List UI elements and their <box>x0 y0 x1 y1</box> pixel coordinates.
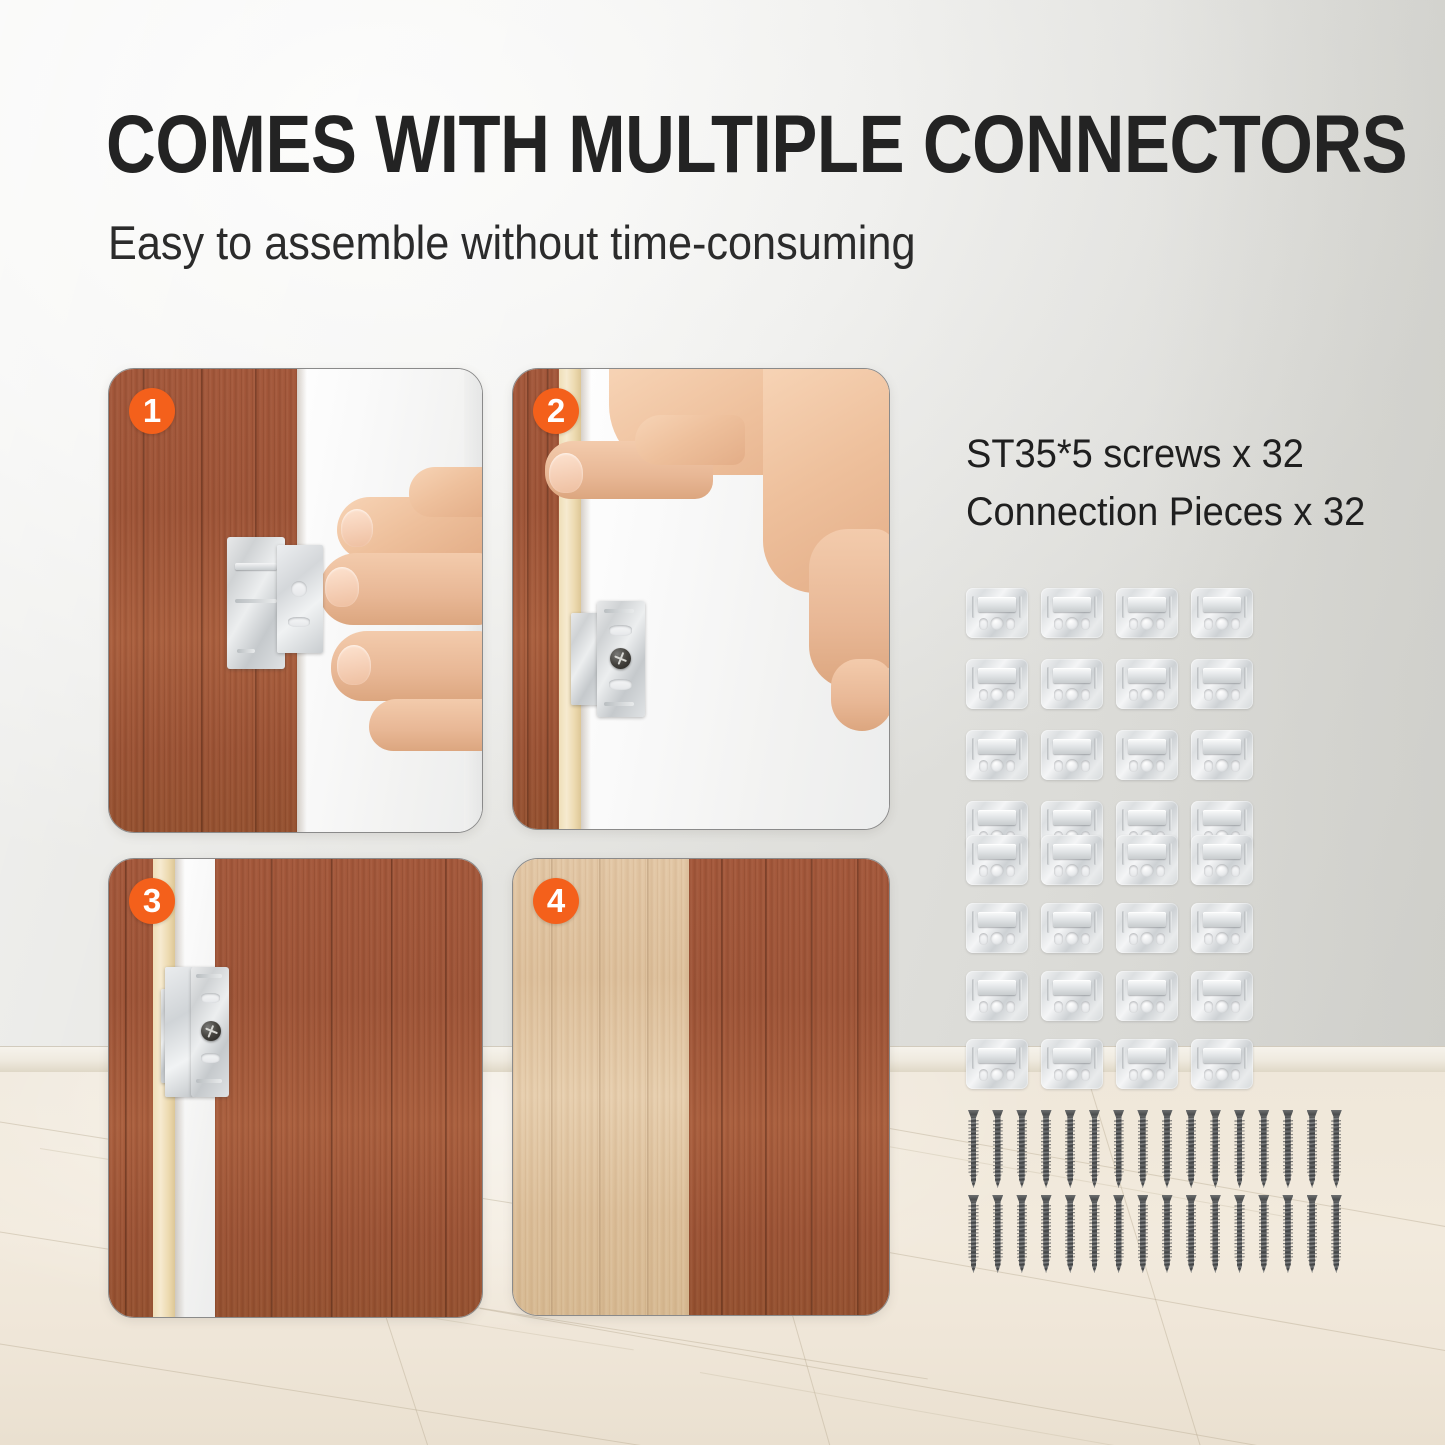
screw-head <box>1186 1110 1197 1118</box>
connector-slit-left <box>1122 596 1125 618</box>
screw <box>1041 1195 1052 1273</box>
connector-hole-center <box>1141 1000 1154 1013</box>
screw-threads <box>1162 1204 1172 1269</box>
screw-threads <box>968 1119 978 1184</box>
connector-hole-left <box>1204 1001 1213 1013</box>
screw-head <box>1210 1110 1221 1118</box>
connector-slit-right <box>1169 979 1172 1001</box>
connector-hole-left <box>1054 1001 1063 1013</box>
connector-hole-right <box>1156 618 1165 630</box>
screw-threads <box>1331 1204 1341 1269</box>
connector-hole-right <box>1006 1069 1015 1081</box>
screw <box>1331 1195 1342 1273</box>
connector-hole-left <box>1129 618 1138 630</box>
connector-hole-left <box>979 1069 988 1081</box>
connection-piece <box>1041 730 1103 780</box>
connector-slit-left <box>972 911 975 933</box>
connector-hole-right <box>1231 1069 1240 1081</box>
screw-threads <box>1162 1119 1172 1184</box>
screw-head <box>1065 1195 1076 1203</box>
connector-slit-right <box>1244 738 1247 760</box>
connector-slit-right <box>1094 738 1097 760</box>
connector-hole-center <box>1066 932 1079 945</box>
connector-slit-left <box>972 843 975 865</box>
connection-piece <box>1116 588 1178 638</box>
connector-hole-center <box>991 932 1004 945</box>
connector-hole-center <box>1141 617 1154 630</box>
connector-tab <box>1128 739 1166 754</box>
connector-slit-left <box>1047 1047 1050 1069</box>
screw-threads <box>1114 1119 1124 1184</box>
connector-grid-upper <box>966 588 1253 851</box>
connection-piece <box>1191 730 1253 780</box>
connector-slit-left <box>1047 911 1050 933</box>
connector-tab <box>1203 980 1241 995</box>
connection-piece <box>966 730 1028 780</box>
connector-hole-left <box>1129 760 1138 772</box>
screw-head <box>1089 1195 1100 1203</box>
screw-head <box>1089 1110 1100 1118</box>
connector-hole-left <box>1129 1069 1138 1081</box>
connector-hole-center <box>1066 617 1079 630</box>
connector-tab <box>1053 810 1091 825</box>
screw-head <box>1162 1195 1173 1203</box>
connector-hole-right <box>1156 1001 1165 1013</box>
connector-hole-center <box>1066 759 1079 772</box>
screw-row-upper <box>968 1110 1342 1188</box>
connector-slit-left <box>972 1047 975 1069</box>
connector-hole-left <box>1204 760 1213 772</box>
screw <box>968 1195 979 1273</box>
screw <box>1307 1110 1318 1188</box>
connector-slit-left <box>972 809 975 831</box>
connector-tab <box>978 1048 1016 1063</box>
connector-tab <box>1128 980 1166 995</box>
connector-tab <box>1128 1048 1166 1063</box>
connector-hole-right <box>1006 933 1015 945</box>
connection-piece <box>1041 588 1103 638</box>
connector-tab <box>1053 597 1091 612</box>
connector-hole-right <box>1006 618 1015 630</box>
screw-head <box>1234 1195 1245 1203</box>
connector-hole-right <box>1006 865 1015 877</box>
connector-slit-right <box>1019 809 1022 831</box>
connector-slit-right <box>1019 738 1022 760</box>
screw-threads <box>1041 1204 1051 1269</box>
screw-head <box>1307 1110 1318 1118</box>
connector-hole-right <box>1006 1001 1015 1013</box>
connector-tab <box>1203 597 1241 612</box>
connector-hole-center <box>991 1000 1004 1013</box>
connector-tab <box>1203 844 1241 859</box>
connector-hole-center <box>1216 688 1229 701</box>
screw-head <box>1016 1110 1027 1118</box>
step-image-2: 2 <box>512 368 890 830</box>
screw-threads <box>968 1204 978 1269</box>
screw <box>1162 1195 1173 1273</box>
connector-tab <box>1128 668 1166 683</box>
screw-threads <box>1234 1119 1244 1184</box>
connector-hole-center <box>991 617 1004 630</box>
connector-slit-left <box>1197 596 1200 618</box>
connector-hole-center <box>1141 759 1154 772</box>
connector-slit-left <box>1197 979 1200 1001</box>
screw <box>992 1195 1003 1273</box>
connector-tab <box>978 739 1016 754</box>
connector-slit-right <box>1019 979 1022 1001</box>
screw-threads <box>1234 1204 1244 1269</box>
screw-threads <box>1210 1204 1220 1269</box>
connector-tab <box>1203 810 1241 825</box>
connector-tab <box>1053 668 1091 683</box>
connector-hole-center <box>1216 932 1229 945</box>
connector-hole-left <box>979 865 988 877</box>
connector-slit-left <box>1197 738 1200 760</box>
connector-hole-right <box>1231 865 1240 877</box>
connector-slit-left <box>1197 1047 1200 1069</box>
connector-slit-right <box>1169 843 1172 865</box>
connector-hole-right <box>1081 933 1090 945</box>
connector-hole-left <box>1054 618 1063 630</box>
connector-slit-left <box>1047 738 1050 760</box>
connector-slit-left <box>1122 667 1125 689</box>
screw-head <box>1331 1195 1342 1203</box>
connection-piece <box>966 903 1028 953</box>
connector-slit-left <box>1047 667 1050 689</box>
connector-hole-left <box>979 1001 988 1013</box>
connector-slit-left <box>1122 1047 1125 1069</box>
page-title: COMES WITH MULTIPLE CONNECTORS <box>106 104 1407 186</box>
connector-tab <box>978 980 1016 995</box>
connector-tab <box>1128 597 1166 612</box>
screw <box>1258 1110 1269 1188</box>
step-image-1: 1 <box>108 368 483 833</box>
connector-hole-center <box>991 759 1004 772</box>
connector-tab <box>1203 912 1241 927</box>
connector-hole-center <box>991 864 1004 877</box>
connector-hole-center <box>1066 1000 1079 1013</box>
screw <box>1016 1195 1027 1273</box>
connector-tab <box>978 668 1016 683</box>
connector-tab <box>1203 739 1241 754</box>
screw <box>1282 1195 1293 1273</box>
screw-threads <box>993 1204 1003 1269</box>
connection-piece <box>1041 1039 1103 1089</box>
connector-slit-right <box>1019 911 1022 933</box>
connector-tab <box>1053 912 1091 927</box>
connector-slit-right <box>1244 596 1247 618</box>
connector-hole-center <box>1141 864 1154 877</box>
connector-hole-right <box>1081 1001 1090 1013</box>
screw-threads <box>1138 1204 1148 1269</box>
connector-hole-right <box>1156 1069 1165 1081</box>
connector-hole-left <box>1054 760 1063 772</box>
connector-slit-right <box>1019 843 1022 865</box>
connector-hole-right <box>1231 760 1240 772</box>
connector-slit-right <box>1244 843 1247 865</box>
screw-head <box>1258 1110 1269 1118</box>
connector-slit-right <box>1094 911 1097 933</box>
connector-hole-center <box>1216 759 1229 772</box>
connector-tab <box>1053 739 1091 754</box>
screw-threads <box>1065 1204 1075 1269</box>
connector-slit-right <box>1244 667 1247 689</box>
screw-head <box>1210 1195 1221 1203</box>
connector-hole-left <box>979 689 988 701</box>
screw <box>1210 1110 1221 1188</box>
screw-head <box>1113 1110 1124 1118</box>
connector-slit-right <box>1169 809 1172 831</box>
screw-threads <box>1017 1119 1027 1184</box>
screw-head <box>1282 1195 1293 1203</box>
connector-hole-center <box>1066 688 1079 701</box>
parts-list-screws-label: ST35*5 screws x 32 <box>966 432 1304 477</box>
screw <box>1258 1195 1269 1273</box>
connector-slit-right <box>1244 979 1247 1001</box>
connector-slit-right <box>1094 809 1097 831</box>
connector-slit-left <box>972 738 975 760</box>
step-badge-4: 4 <box>533 878 579 924</box>
connector-slit-left <box>1122 979 1125 1001</box>
connector-hole-left <box>1204 933 1213 945</box>
connector-tab <box>1128 810 1166 825</box>
page-subtitle: Easy to assemble without time-consuming <box>108 215 916 270</box>
connector-hole-left <box>1129 1001 1138 1013</box>
connector-hole-right <box>1231 933 1240 945</box>
screw-head <box>1016 1195 1027 1203</box>
connection-piece <box>1041 659 1103 709</box>
connector-hole-left <box>1054 865 1063 877</box>
connector-tab <box>1203 1048 1241 1063</box>
connector-hole-left <box>1054 689 1063 701</box>
connector-hole-left <box>1129 689 1138 701</box>
connector-hole-center <box>1216 864 1229 877</box>
screw-threads <box>1186 1204 1196 1269</box>
connector-hole-right <box>1156 933 1165 945</box>
connector-tab <box>1053 980 1091 995</box>
screw-head <box>1258 1195 1269 1203</box>
connector-slit-left <box>1047 596 1050 618</box>
screw-head <box>968 1195 979 1203</box>
screw-head <box>1282 1110 1293 1118</box>
connection-piece <box>966 659 1028 709</box>
screw-head <box>1065 1110 1076 1118</box>
connector-hole-center <box>991 1068 1004 1081</box>
step-badge-2: 2 <box>533 388 579 434</box>
connector-hole-center <box>991 688 1004 701</box>
screw-head <box>992 1110 1003 1118</box>
screw <box>1282 1110 1293 1188</box>
connector-hole-left <box>1204 689 1213 701</box>
screw-threads <box>1331 1119 1341 1184</box>
connection-piece <box>966 588 1028 638</box>
screw <box>968 1110 979 1188</box>
connector-slit-left <box>972 979 975 1001</box>
screw <box>1089 1110 1100 1188</box>
connector-tab <box>1203 668 1241 683</box>
connector-slit-left <box>1047 979 1050 1001</box>
screw-head <box>1186 1195 1197 1203</box>
screw <box>1210 1195 1221 1273</box>
connector-hole-right <box>1156 689 1165 701</box>
connector-slit-right <box>1094 1047 1097 1069</box>
screw-head <box>1307 1195 1318 1203</box>
screw-head-icon <box>610 648 631 669</box>
screw-head <box>1162 1110 1173 1118</box>
connector-hole-right <box>1081 760 1090 772</box>
screw <box>1307 1195 1318 1273</box>
connector-slit-right <box>1169 911 1172 933</box>
connector-hole-center <box>1066 864 1079 877</box>
connector-hole-left <box>979 618 988 630</box>
screw <box>1041 1110 1052 1188</box>
connector-slit-left <box>1122 738 1125 760</box>
connector-hole-left <box>1129 865 1138 877</box>
screw-threads <box>993 1119 1003 1184</box>
screw-threads <box>1307 1204 1317 1269</box>
screw-threads <box>1017 1204 1027 1269</box>
screw-head <box>1113 1195 1124 1203</box>
screw <box>1186 1195 1197 1273</box>
connector-slit-left <box>1122 911 1125 933</box>
connector-slit-left <box>972 596 975 618</box>
screw <box>1234 1195 1245 1273</box>
screw-row-lower <box>968 1195 1342 1273</box>
screw-threads <box>1186 1119 1196 1184</box>
screw <box>1113 1110 1124 1188</box>
connector-slit-left <box>1197 911 1200 933</box>
connector-tab <box>1053 1048 1091 1063</box>
connector-slit-right <box>1244 1047 1247 1069</box>
connection-piece <box>1191 903 1253 953</box>
connector-hole-right <box>1006 760 1015 772</box>
screw <box>1065 1195 1076 1273</box>
screw-threads <box>1065 1119 1075 1184</box>
screw-head <box>1234 1110 1245 1118</box>
connector-hole-left <box>1204 1069 1213 1081</box>
connector-slit-left <box>1197 667 1200 689</box>
connector-slit-left <box>1047 843 1050 865</box>
connector-hole-left <box>1054 1069 1063 1081</box>
connector-slit-right <box>1244 809 1247 831</box>
parts-list-connectors-label: Connection Pieces x 32 <box>966 490 1365 535</box>
connector-hole-right <box>1231 689 1240 701</box>
connection-piece <box>1191 588 1253 638</box>
screw-head <box>1137 1110 1148 1118</box>
connector-hole-center <box>1141 688 1154 701</box>
connector-slit-left <box>1122 843 1125 865</box>
product-scene: COMES WITH MULTIPLE CONNECTORS Easy to a… <box>0 0 1445 1445</box>
screw-head <box>1137 1195 1148 1203</box>
connector-slit-left <box>1122 809 1125 831</box>
connector-grid-lower <box>966 835 1253 1089</box>
connection-piece <box>1116 659 1178 709</box>
connector-tab <box>1128 912 1166 927</box>
screw <box>1137 1195 1148 1273</box>
screw <box>1331 1110 1342 1188</box>
connector-hole-left <box>979 760 988 772</box>
connector-hole-center <box>1216 1000 1229 1013</box>
connector-hole-center <box>1216 617 1229 630</box>
screw-head <box>1041 1110 1052 1118</box>
connector-slit-left <box>1197 809 1200 831</box>
connector-hole-right <box>1156 760 1165 772</box>
connector-hole-center <box>1141 932 1154 945</box>
screw-head <box>992 1195 1003 1203</box>
screw <box>1065 1110 1076 1188</box>
connector-slit-right <box>1169 596 1172 618</box>
screw-head <box>1331 1110 1342 1118</box>
connector-hole-center <box>1141 1068 1154 1081</box>
screw-threads <box>1041 1119 1051 1184</box>
screw-threads <box>1210 1119 1220 1184</box>
connector-slit-left <box>972 667 975 689</box>
connector-hole-left <box>979 933 988 945</box>
connector-slit-right <box>1019 1047 1022 1069</box>
screw-threads <box>1138 1119 1148 1184</box>
connection-piece <box>1191 659 1253 709</box>
connection-piece <box>1041 903 1103 953</box>
connection-piece <box>1041 835 1103 885</box>
screw-threads <box>1114 1204 1124 1269</box>
connector-hole-right <box>1081 618 1090 630</box>
screw-threads <box>1283 1119 1293 1184</box>
screw <box>1162 1110 1173 1188</box>
connection-piece <box>1041 971 1103 1021</box>
connector-tab <box>978 597 1016 612</box>
connector-slit-right <box>1019 667 1022 689</box>
connector-slit-right <box>1244 911 1247 933</box>
step-badge-3: 3 <box>129 878 175 924</box>
connection-piece <box>1191 835 1253 885</box>
connector-hole-right <box>1081 689 1090 701</box>
connector-tab <box>1128 844 1166 859</box>
connection-piece <box>1191 1039 1253 1089</box>
screw <box>1016 1110 1027 1188</box>
connector-slit-right <box>1094 667 1097 689</box>
connector-hole-right <box>1231 1001 1240 1013</box>
screw-threads <box>1307 1119 1317 1184</box>
connector-slit-right <box>1094 979 1097 1001</box>
screw-threads <box>1089 1119 1099 1184</box>
connector-tab <box>978 844 1016 859</box>
connector-slit-right <box>1019 596 1022 618</box>
screw-head <box>1041 1195 1052 1203</box>
step-image-4: 4 <box>512 858 890 1316</box>
screw <box>1234 1110 1245 1188</box>
connector-slit-left <box>1197 843 1200 865</box>
connector-hole-left <box>1129 933 1138 945</box>
connector-slit-right <box>1169 1047 1172 1069</box>
connector-tab <box>978 912 1016 927</box>
connection-piece <box>1116 730 1178 780</box>
connector-hole-center <box>1066 1068 1079 1081</box>
screw <box>1089 1195 1100 1273</box>
connector-slit-right <box>1094 843 1097 865</box>
connector-hole-right <box>1231 618 1240 630</box>
screw-threads <box>1089 1204 1099 1269</box>
connector-hole-right <box>1081 1069 1090 1081</box>
connector-hole-left <box>1204 618 1213 630</box>
connector-tab <box>1053 844 1091 859</box>
screw-head <box>968 1110 979 1118</box>
connection-piece <box>1116 1039 1178 1089</box>
connector-hole-right <box>1156 865 1165 877</box>
connection-piece <box>966 1039 1028 1089</box>
connection-piece <box>966 971 1028 1021</box>
connector-hole-left <box>1204 865 1213 877</box>
connector-hole-right <box>1081 865 1090 877</box>
